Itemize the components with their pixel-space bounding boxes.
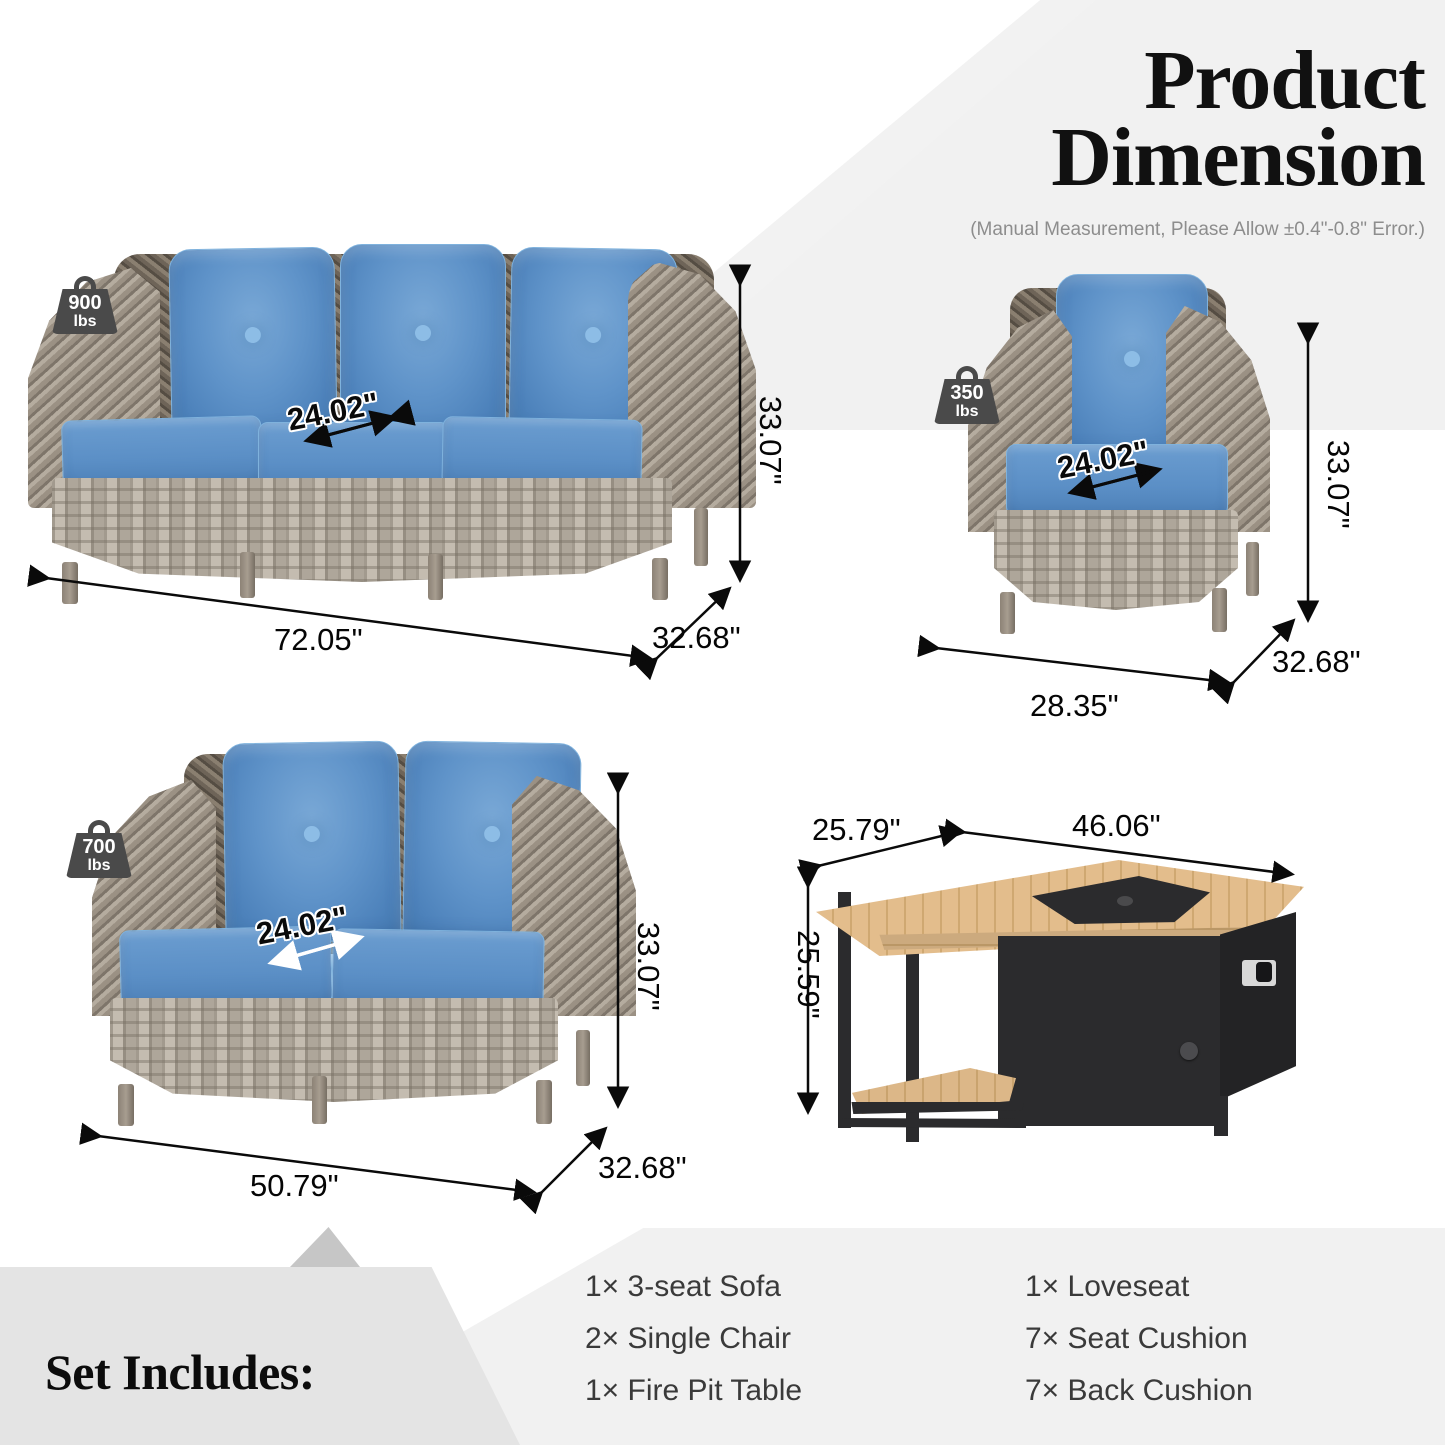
- sofa-height-label: 33.07": [752, 396, 788, 485]
- firepit-width-label: 46.06": [1072, 808, 1161, 844]
- chair-height-label: 33.07": [1320, 440, 1356, 529]
- loveseat-height-label: 33.07": [630, 922, 666, 1011]
- infographic-canvas: Product Dimension (Manual Measurement, P…: [0, 0, 1445, 1445]
- chair-depth-label: 32.68": [1272, 644, 1361, 680]
- firepit-height-label: 25.59": [790, 930, 826, 1019]
- sofa-depth-label: 32.68": [652, 620, 741, 656]
- sofa-width-label: 72.05": [274, 622, 363, 658]
- loveseat-width-label: 50.79": [250, 1168, 339, 1204]
- chair-width-label: 28.35": [1030, 688, 1119, 724]
- firepit-depth-label: 25.79": [812, 812, 901, 848]
- firepit-height-arrow: [0, 0, 1445, 1445]
- loveseat-depth-label: 32.68": [598, 1150, 687, 1186]
